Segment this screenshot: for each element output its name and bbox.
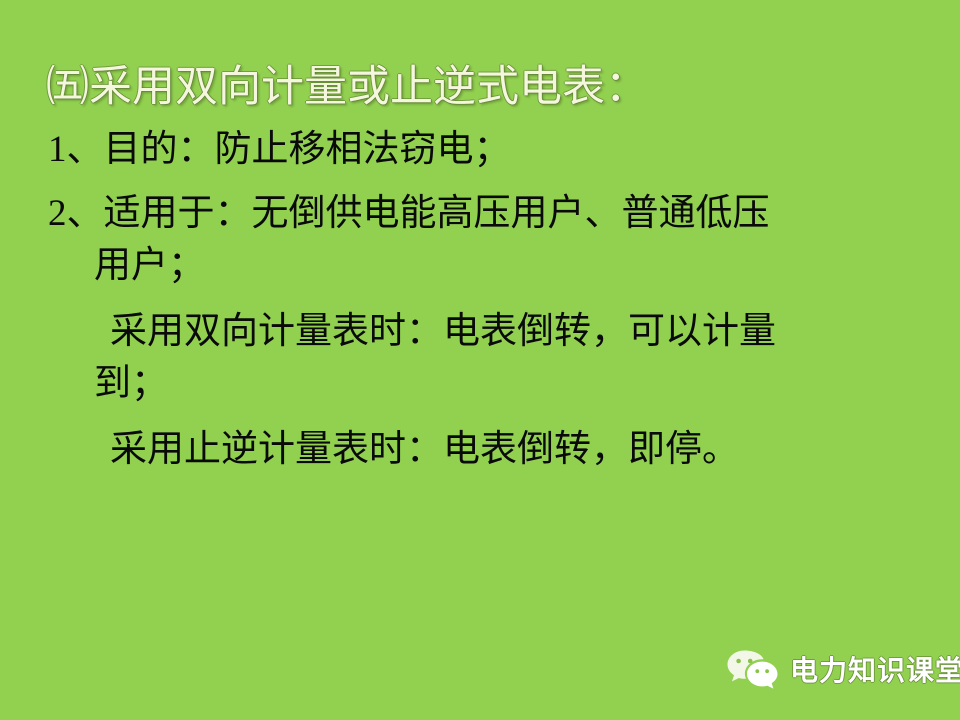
slide-body: 1、目的：防止移相法窃电； 2、适用于：无倒供电能高压用户、普通低压 用户； 采… — [0, 124, 960, 476]
line-spacer — [0, 176, 960, 188]
body-line-3: 用户； — [0, 240, 960, 292]
wechat-account-name: 电力知识课堂 — [790, 649, 960, 689]
body-line-4: 采用双向计量表时：电表倒转，可以计量 — [0, 306, 960, 358]
body-line-5: 到； — [0, 358, 960, 410]
wechat-watermark: 电力知识课堂 — [726, 648, 960, 690]
wechat-logo-icon — [726, 648, 780, 690]
body-line-6: 采用止逆计量表时：电表倒转，即停。 — [0, 424, 960, 476]
body-line-2: 2、适用于：无倒供电能高压用户、普通低压 — [0, 188, 960, 240]
body-line-1: 1、目的：防止移相法窃电； — [0, 124, 960, 176]
line-spacer — [0, 292, 960, 306]
presentation-slide: ㈤采用双向计量或止逆式电表： 1、目的：防止移相法窃电； 2、适用于：无倒供电能… — [0, 0, 960, 720]
slide-title: ㈤采用双向计量或止逆式电表： — [46, 62, 648, 114]
line-spacer — [0, 410, 960, 424]
